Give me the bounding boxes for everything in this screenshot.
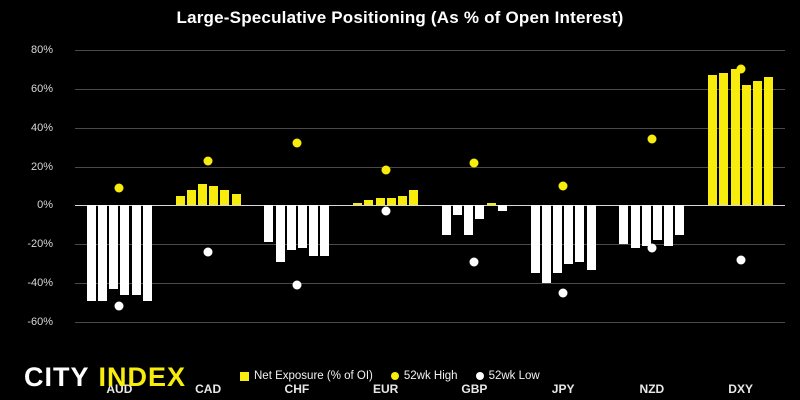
bar (287, 205, 296, 250)
bar (320, 205, 329, 256)
52wk-high-marker (115, 183, 124, 192)
bar (764, 77, 773, 205)
52wk-low-marker (736, 255, 745, 264)
legend-item: 52wk High (391, 370, 458, 382)
brand-logo: CITYINDEX (24, 362, 186, 393)
bar-group-jpy (519, 50, 608, 322)
y-axis-tick-label: -20% (0, 238, 53, 250)
x-axis-label-gbp: GBP (461, 382, 487, 396)
legend-label: 52wk Low (489, 370, 540, 382)
legend-item: Net Exposure (% of OI) (240, 370, 373, 382)
x-axis-label-nzd: NZD (640, 382, 665, 396)
bar (232, 194, 241, 206)
52wk-high-marker (204, 156, 213, 165)
x-axis-label-chf: CHF (285, 382, 310, 396)
bar (132, 205, 141, 294)
legend-label: 52wk High (404, 370, 458, 382)
plot-area: 80%60%40%20%0%-20%-40%-60%AUDCADCHFEURGB… (75, 50, 785, 322)
legend-item: 52wk Low (476, 370, 540, 382)
bar (542, 205, 551, 283)
legend-dot-icon (391, 372, 399, 380)
bar (143, 205, 152, 300)
y-axis-tick-label: 20% (0, 161, 53, 173)
bar-group-cad (164, 50, 253, 322)
x-axis-label-jpy: JPY (552, 382, 575, 396)
bar (98, 205, 107, 300)
bar (719, 73, 728, 205)
bar (587, 205, 596, 269)
bar (675, 205, 684, 234)
52wk-high-marker (647, 135, 656, 144)
bar (398, 196, 407, 206)
chart-root: Large-Speculative Positioning (As % of O… (0, 0, 800, 400)
y-axis-tick-label: 40% (0, 122, 53, 134)
y-axis-tick-label: 0% (0, 199, 53, 211)
bar (198, 184, 207, 205)
bar (453, 205, 462, 215)
bar (276, 205, 285, 261)
bar (531, 205, 540, 273)
bar (298, 205, 307, 248)
bar (708, 75, 717, 205)
52wk-low-marker (559, 288, 568, 297)
bar (376, 198, 385, 206)
bar (176, 196, 185, 206)
bar-group-gbp (430, 50, 519, 322)
bar (464, 205, 473, 234)
bar (264, 205, 273, 242)
bar (220, 190, 229, 206)
bar (575, 205, 584, 261)
bar-group-chf (253, 50, 342, 322)
bar (487, 203, 496, 205)
bar-group-dxy (696, 50, 785, 322)
bar (87, 205, 96, 300)
bar-group-aud (75, 50, 164, 322)
legend-label: Net Exposure (% of OI) (254, 370, 373, 382)
legend-dot-icon (476, 372, 484, 380)
x-axis-label-cad: CAD (195, 382, 221, 396)
bar (742, 85, 751, 205)
52wk-high-marker (292, 139, 301, 148)
52wk-low-marker (204, 248, 213, 257)
bar (109, 205, 118, 289)
bar (209, 186, 218, 205)
chart-title: Large-Speculative Positioning (As % of O… (0, 8, 800, 28)
y-axis-tick-label: 80% (0, 44, 53, 56)
bar (553, 205, 562, 273)
bar (664, 205, 673, 246)
bar (731, 69, 740, 205)
52wk-high-marker (736, 65, 745, 74)
bar (653, 205, 662, 240)
bar (564, 205, 573, 263)
bar (475, 205, 484, 219)
x-axis-label-eur: EUR (373, 382, 398, 396)
52wk-high-marker (381, 166, 390, 175)
bar (753, 81, 762, 205)
bar (364, 200, 373, 206)
legend-square-icon (240, 372, 249, 381)
bar (631, 205, 640, 248)
brand-logo-city: CITY (24, 362, 90, 392)
gridline (75, 322, 785, 323)
bar (498, 205, 507, 211)
52wk-low-marker (292, 281, 301, 290)
y-axis-tick-label: 60% (0, 83, 53, 95)
bar (353, 203, 362, 205)
52wk-low-marker (381, 207, 390, 216)
brand-logo-index: INDEX (99, 362, 187, 392)
bar (387, 198, 396, 206)
bar (187, 190, 196, 206)
bar (309, 205, 318, 256)
bar-group-eur (341, 50, 430, 322)
52wk-low-marker (470, 257, 479, 266)
52wk-high-marker (559, 182, 568, 191)
bar (409, 190, 418, 206)
y-axis-tick-label: -40% (0, 277, 53, 289)
bar (120, 205, 129, 294)
52wk-high-marker (470, 158, 479, 167)
bar (642, 205, 651, 246)
y-axis-tick-label: -60% (0, 316, 53, 328)
52wk-low-marker (647, 244, 656, 253)
bar (619, 205, 628, 244)
x-axis-label-dxy: DXY (728, 382, 753, 396)
chart-legend: Net Exposure (% of OI)52wk High52wk Low (240, 370, 540, 382)
bar (442, 205, 451, 234)
bar-group-nzd (608, 50, 697, 322)
52wk-low-marker (115, 302, 124, 311)
